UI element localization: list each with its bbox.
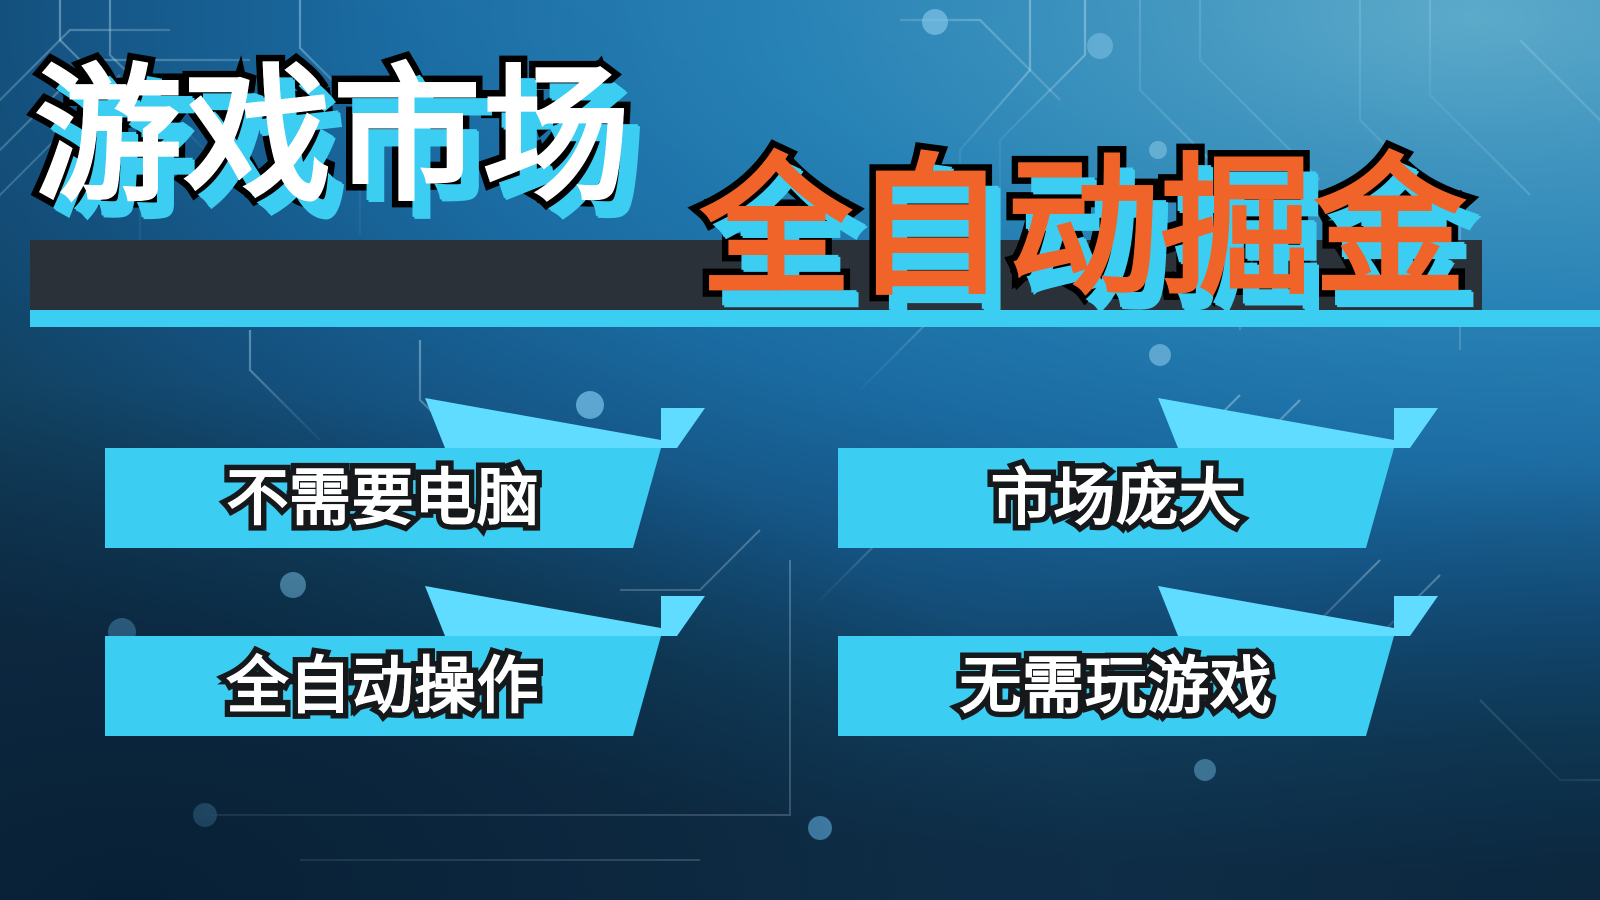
headline-group: 游戏市场 游戏市场 全自动掘金 全自动掘金 xyxy=(0,0,1600,340)
feature-card-2: 全自动操作 全自动操作 xyxy=(105,578,705,740)
feature-label-3: 无需玩游戏 xyxy=(838,636,1394,736)
feature-card-0: 不需要电脑 不需要电脑 xyxy=(105,390,705,552)
swoosh-accent-icon xyxy=(838,390,1438,452)
swoosh-accent-icon xyxy=(105,390,705,452)
feature-card-1: 市场庞大 市场庞大 xyxy=(838,390,1438,552)
swoosh-accent-icon xyxy=(105,578,705,640)
feature-label-0: 不需要电脑 xyxy=(105,448,661,548)
feature-card-3: 无需玩游戏 无需玩游戏 xyxy=(838,578,1438,740)
headline-accent: 全自动掘金 xyxy=(700,152,1468,304)
headline-primary: 游戏市场 xyxy=(34,62,632,210)
feature-label-2: 全自动操作 xyxy=(105,636,661,736)
feature-label-1: 市场庞大 xyxy=(838,448,1394,548)
swoosh-accent-icon xyxy=(838,578,1438,640)
promo-banner: 游戏市场 游戏市场 全自动掘金 全自动掘金 不需要电脑 不需要电脑 市场庞大 市… xyxy=(0,0,1600,900)
